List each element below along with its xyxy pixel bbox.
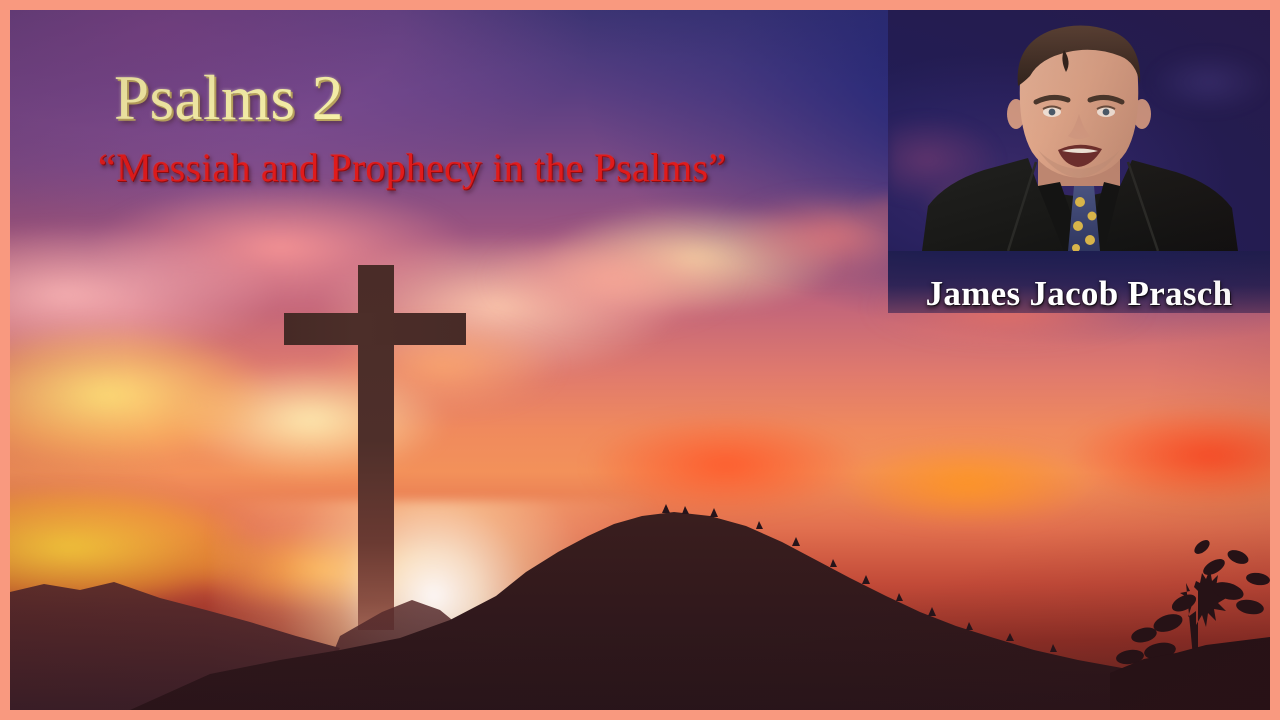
- speaker-portrait: [888, 10, 1270, 251]
- cross-horizontal-beam: [284, 313, 466, 345]
- portrait-figure: [888, 10, 1270, 251]
- slide-canvas: Psalms 2 “Messiah and Prophecy in the Ps…: [10, 10, 1270, 710]
- speaker-name-label: James Jacob Prasch: [888, 276, 1270, 311]
- tree-branch-silhouette: [1110, 495, 1270, 710]
- slide-frame: Psalms 2 “Messiah and Prophecy in the Ps…: [0, 0, 1280, 720]
- mountain-ridge-silhouette: [10, 460, 1270, 710]
- page-title: Psalms 2: [114, 67, 344, 130]
- page-subtitle: “Messiah and Prophecy in the Psalms”: [98, 148, 726, 188]
